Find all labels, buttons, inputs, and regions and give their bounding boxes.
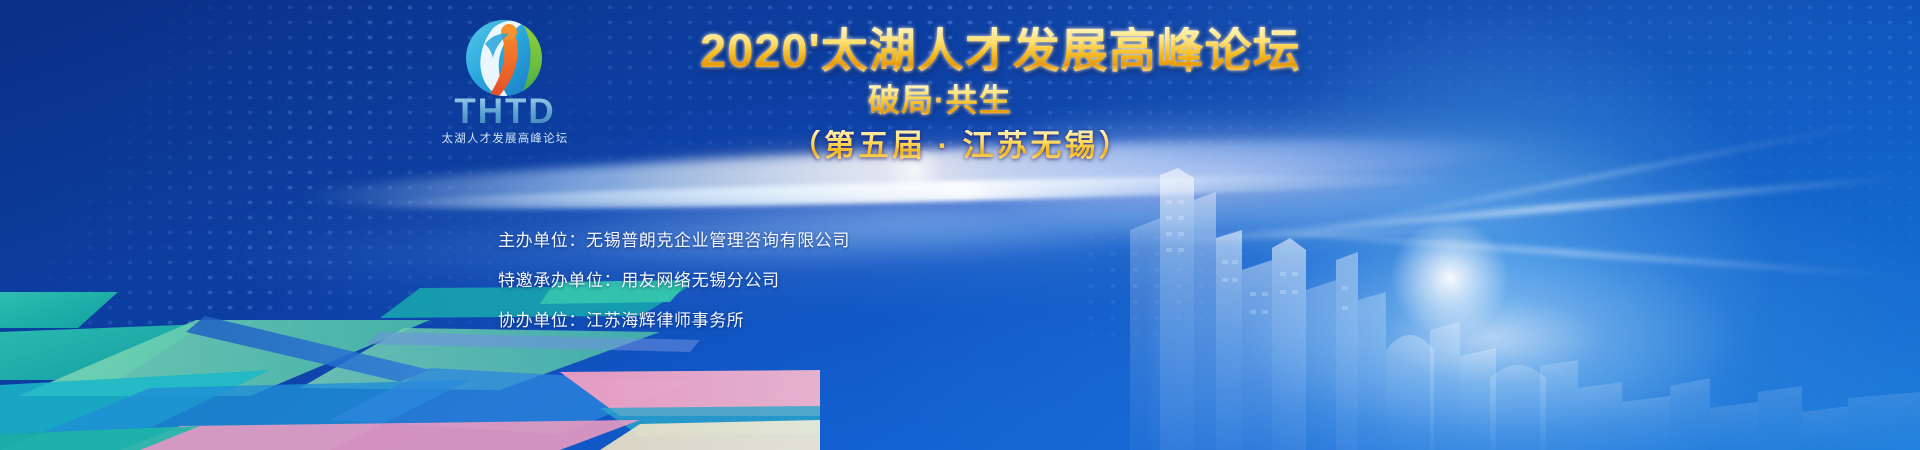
sparkle-1: [1390, 218, 1510, 338]
organizer-line-supporter: 协办单位：江苏海辉律师事务所: [498, 312, 850, 329]
light-burst-upper-right: [980, 96, 1680, 246]
conference-banner: THTD 太湖人才发展高峰论坛 2020'太湖人才发展高峰论坛 破局·共生 （第…: [0, 0, 1920, 450]
organizer-line-host: 主办单位：无锡普朗克企业管理咨询有限公司: [498, 232, 850, 249]
logo-abbreviation: THTD: [415, 94, 595, 129]
page-title: 2020'太湖人才发展高峰论坛: [700, 27, 1301, 74]
page-subtitle: 破局·共生: [868, 84, 1012, 116]
logo-wordmark: THTD 太湖人才发展高峰论坛: [415, 94, 595, 146]
light-swoosh-soft: [239, 167, 1541, 296]
event-logo: THTD 太湖人才发展高峰论坛: [415, 18, 595, 143]
city-skyline-silhouette: [1130, 160, 1920, 450]
edition-location-label: （第五届 · 江苏无锡）: [790, 130, 1133, 161]
thtd-globe-figure-logo-icon: [463, 18, 545, 98]
light-streak-thin: [360, 169, 1460, 216]
right-light-burst: [1150, 120, 1920, 450]
halftone-dots-lower: [1080, 230, 1380, 400]
light-ray-1: [1181, 173, 1919, 244]
light-swoosh-glow: [176, 82, 1634, 358]
light-ray-2: [1211, 225, 1920, 280]
organizer-line-co-host: 特邀承办单位：用友网络无锡分公司: [498, 272, 850, 289]
organizer-list: 主办单位：无锡普朗克企业管理咨询有限公司 特邀承办单位：用友网络无锡分公司 协办…: [498, 232, 850, 352]
light-ray-4: [1120, 225, 1540, 244]
halftone-dots-right: [1240, 0, 1920, 260]
logo-chinese-name: 太湖人才发展高峰论坛: [415, 130, 595, 146]
light-ray-3: [1246, 117, 1895, 247]
